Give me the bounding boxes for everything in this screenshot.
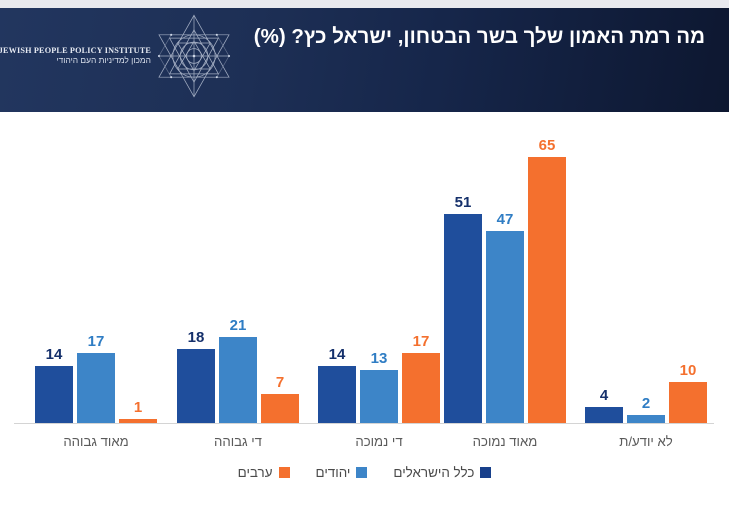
bar: [444, 214, 482, 423]
legend-item[interactable]: כלל הישראלים: [393, 465, 491, 480]
top-strip: [0, 0, 729, 8]
bar: [528, 157, 566, 423]
bar: [486, 231, 524, 423]
logo-name-en-main: Jewish People Policy Institute: [0, 46, 151, 55]
bar-value-label: 14: [318, 346, 356, 363]
logo-name-en: TheJewish People Policy Institute: [0, 46, 151, 55]
bar-value-label: 51: [444, 194, 482, 211]
bar: [35, 366, 73, 423]
star-of-david-logo-icon: [153, 12, 235, 100]
bar: [627, 415, 665, 423]
bar: [402, 353, 440, 423]
bar: [177, 349, 215, 423]
bar-value-label: 17: [402, 333, 440, 350]
page-title: מה רמת האמון שלך בשר הבטחון, ישראל כץ? (…: [235, 22, 705, 51]
bar-value-label: 7: [261, 374, 299, 391]
bar-value-label: 21: [219, 317, 257, 334]
chart-legend: כלל הישראליםיהודיםערבים: [0, 465, 729, 480]
legend-color-swatch: [480, 467, 491, 478]
bar: [77, 353, 115, 423]
bar-value-label: 2: [627, 395, 665, 412]
bar-value-label: 18: [177, 329, 215, 346]
logo-wordmark: TheJewish People Policy Institute המכון …: [0, 46, 151, 66]
bar: [318, 366, 356, 423]
bar-chart: 14171מאוד גבוהה18217די גבוהה141317די נמו…: [0, 112, 729, 518]
chart-header: TheJewish People Policy Institute המכון …: [0, 8, 729, 112]
bar-value-label: 1: [119, 399, 157, 416]
legend-color-swatch: [356, 467, 367, 478]
legend-label: יהודים: [316, 465, 351, 480]
bar-value-label: 14: [35, 346, 73, 363]
legend-color-swatch: [279, 467, 290, 478]
x-axis-line: [14, 423, 714, 424]
bar: [119, 419, 157, 423]
bar-value-label: 13: [360, 350, 398, 367]
plot-area: 14171מאוד גבוהה18217די גבוהה141317די נמו…: [0, 112, 729, 430]
bar: [669, 382, 707, 423]
bar-value-label: 47: [486, 211, 524, 228]
bar: [219, 337, 257, 423]
bar-value-label: 4: [585, 387, 623, 404]
bar: [585, 407, 623, 423]
logo-name-he: המכון למדיניות העם היהודי: [0, 56, 151, 66]
bar: [360, 370, 398, 423]
bar: [261, 394, 299, 423]
bar-value-label: 65: [528, 137, 566, 154]
legend-item[interactable]: ערבים: [238, 465, 290, 480]
legend-label: ערבים: [238, 465, 273, 480]
x-axis-label: לא יודע/ת: [563, 434, 729, 449]
legend-label: כלל הישראלים: [393, 465, 474, 480]
legend-item[interactable]: יהודים: [316, 465, 368, 480]
jppi-logo: TheJewish People Policy Institute המכון …: [30, 10, 235, 102]
bar-value-label: 10: [669, 362, 707, 379]
bar-value-label: 17: [77, 333, 115, 350]
